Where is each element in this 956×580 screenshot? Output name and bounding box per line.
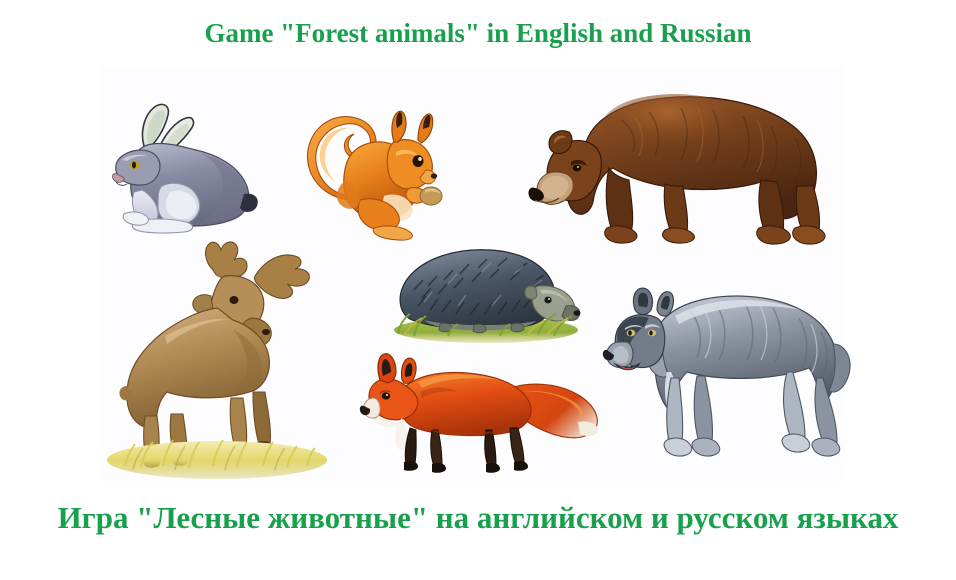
bear-eye-icon [573,165,581,172]
squirrel-eye-icon [413,155,424,167]
animal-moose [105,234,345,479]
hedgehog-drawing [388,236,583,346]
animal-fox [362,336,607,471]
moose-eye-icon [230,296,239,304]
fox-eye-icon [382,392,390,399]
fox-drawing [362,336,607,471]
animal-bear [525,76,825,256]
hedgehog-eye-icon [544,297,551,304]
animals-illustration-panel [100,66,845,481]
wolf-drawing [605,266,850,476]
squirrel-drawing [298,104,448,244]
animal-squirrel [298,104,448,244]
moose-drawing [105,234,345,479]
animal-hedgehog [388,236,583,346]
page-title-english: Game "Forest animals" in English and Rus… [0,18,956,49]
bear-drawing [525,76,825,256]
hare-drawing [100,102,260,237]
page-title-russian: Игра "Лесные животные" на английском и р… [0,500,956,536]
animal-hare [100,102,260,237]
animal-wolf [605,266,850,476]
moose-grass [107,440,327,479]
